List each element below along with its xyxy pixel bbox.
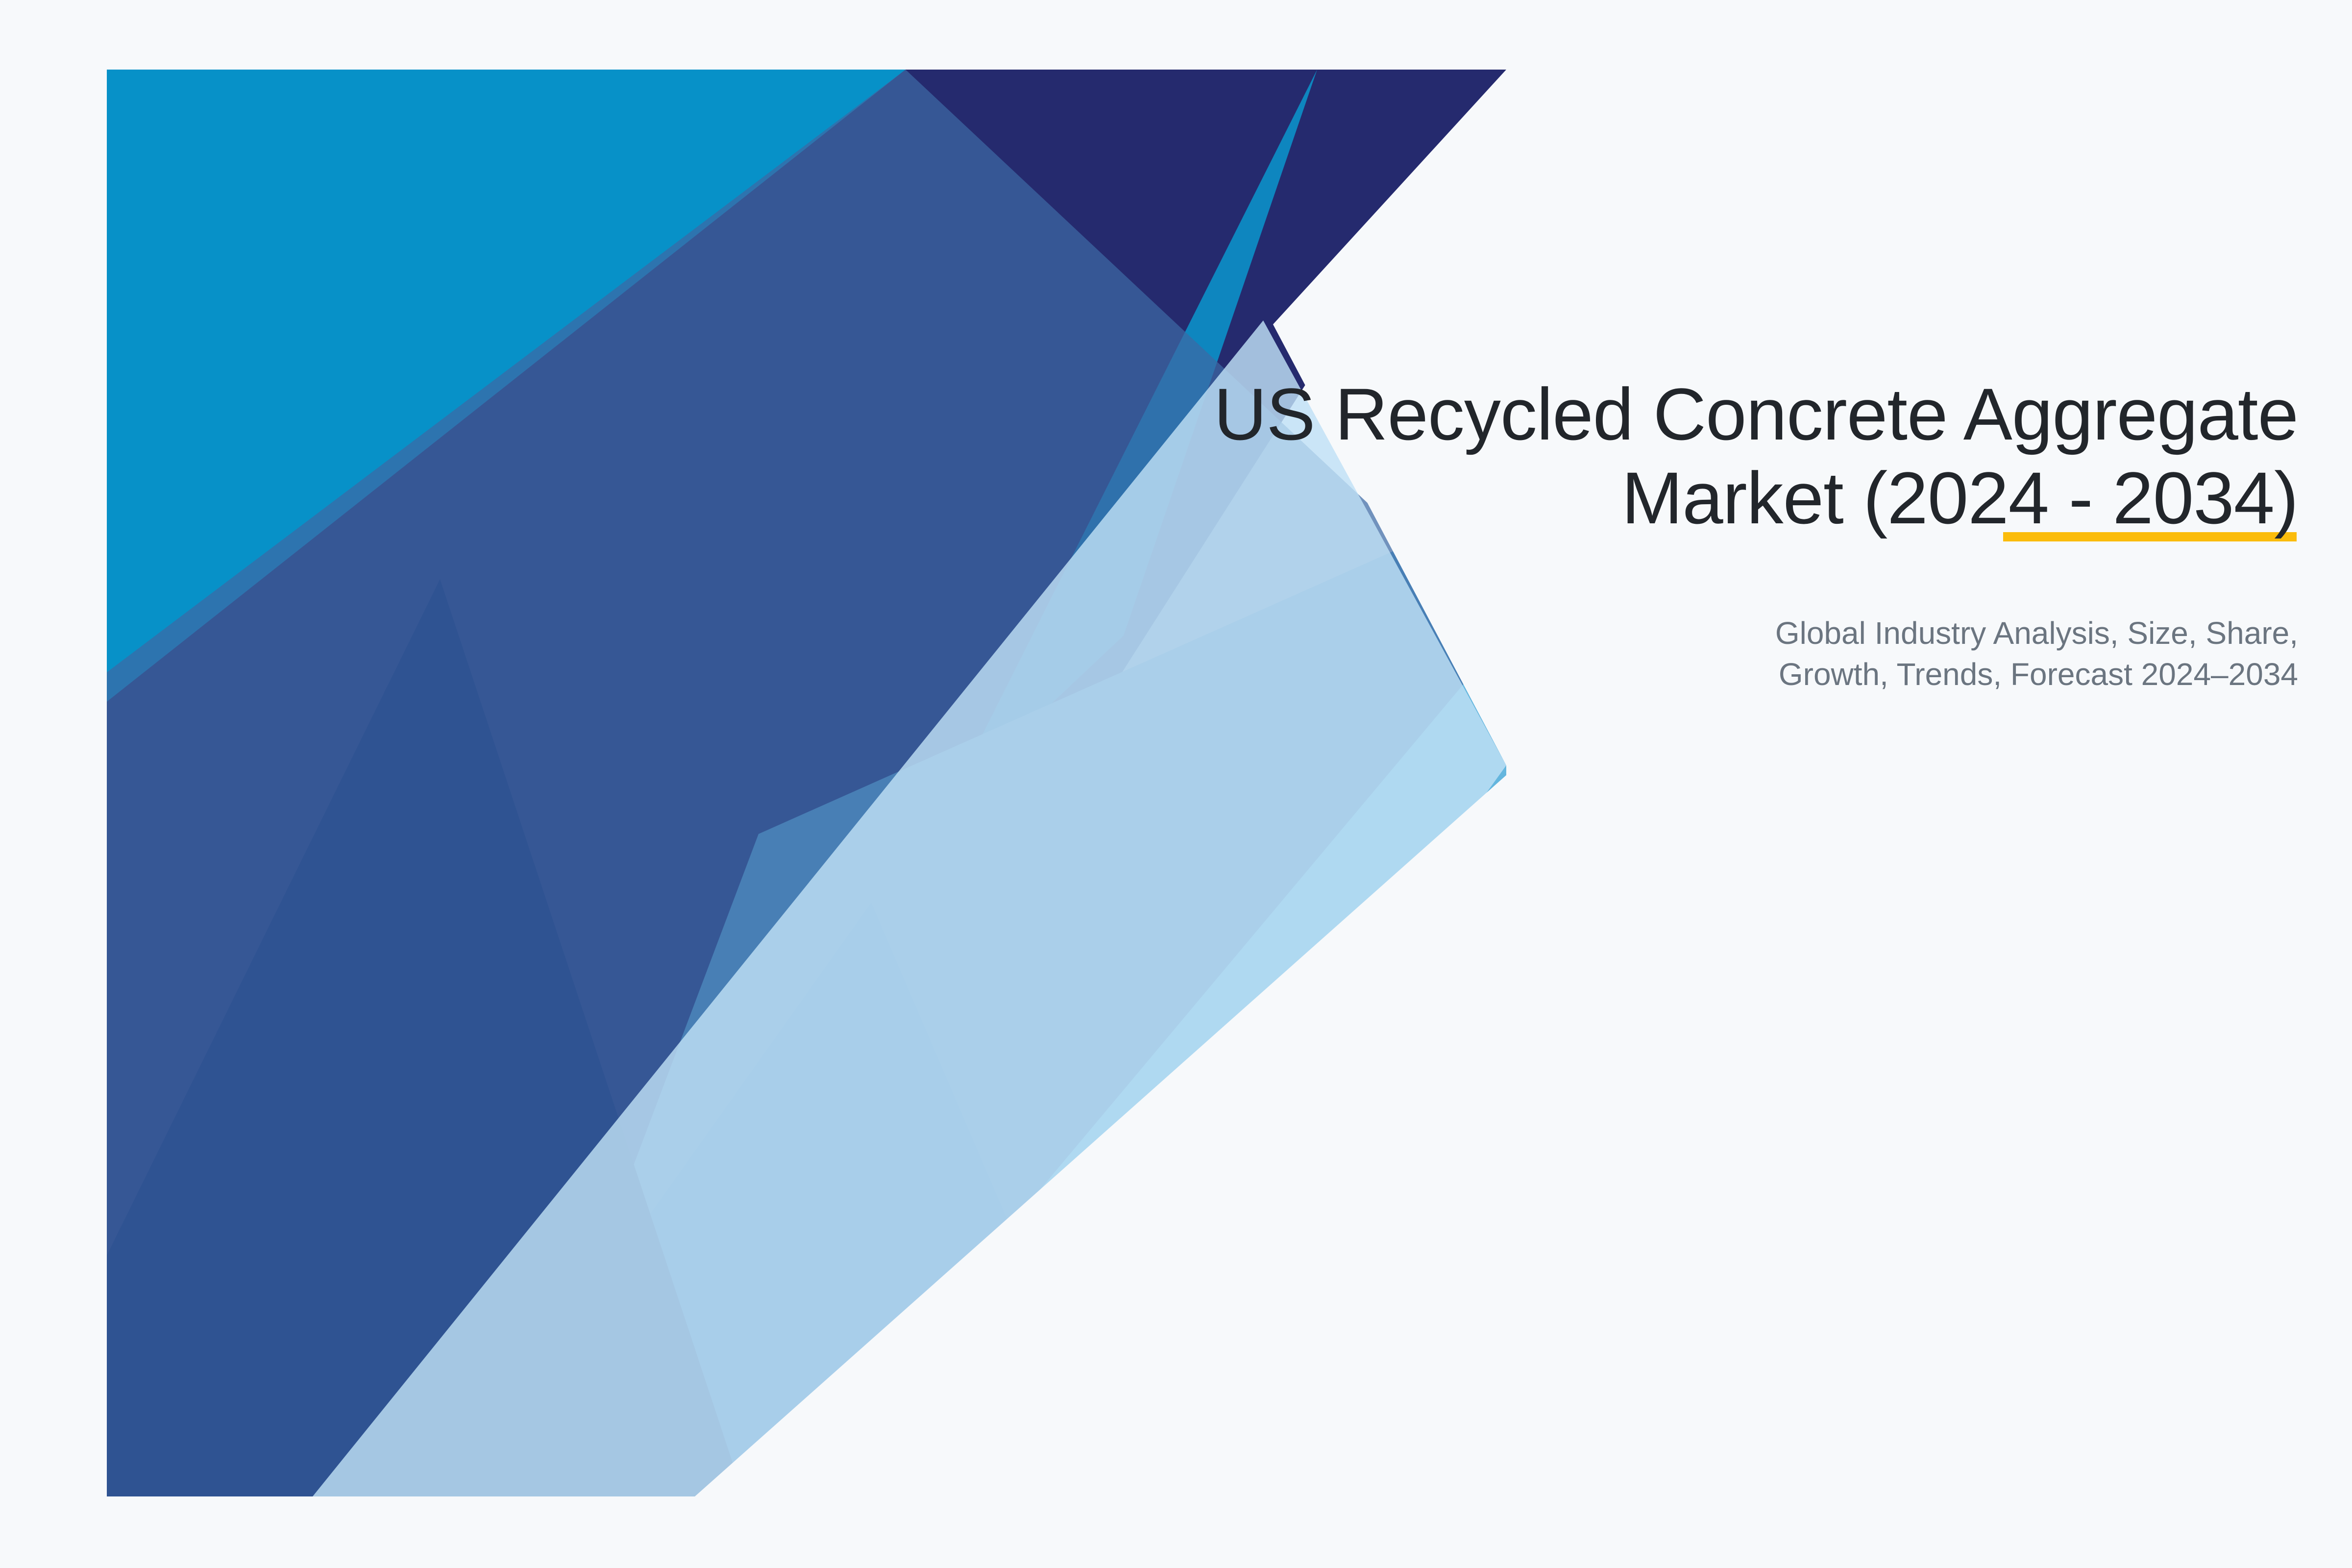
cover-graphic-svg xyxy=(107,70,1506,1496)
page-subtitle: Global Industry Analysis, Size, Share, G… xyxy=(931,540,2298,695)
cover-text-block: US Recycled Concrete Aggregate Market (2… xyxy=(931,372,2298,695)
report-cover-page: US Recycled Concrete Aggregate Market (2… xyxy=(0,0,2352,1568)
abstract-geometric-cover-graphic xyxy=(107,70,1506,1496)
page-title: US Recycled Concrete Aggregate Market (2… xyxy=(931,372,2298,540)
